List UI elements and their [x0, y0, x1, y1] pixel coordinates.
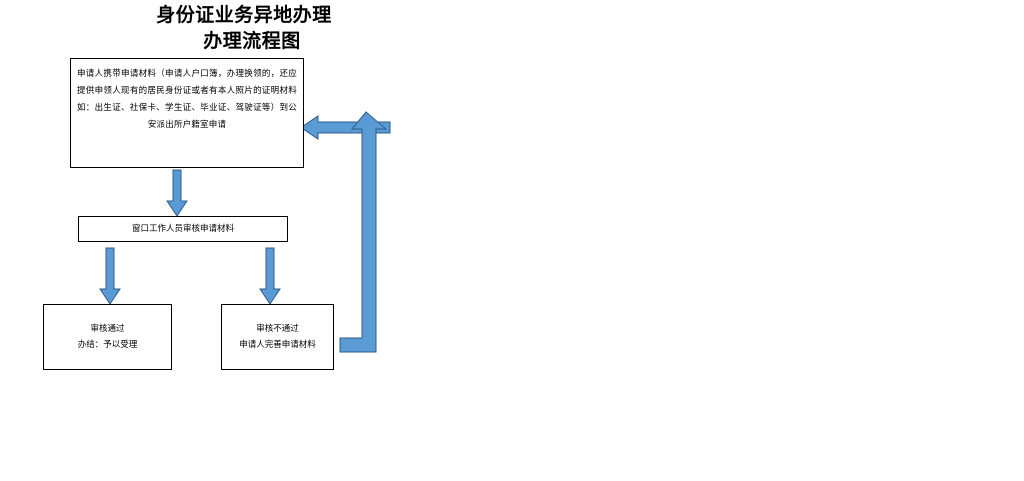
flow-node-review-text: 窗口工作人员审核申请材料 — [79, 221, 287, 237]
flow-node-review-label: 窗口工作人员审核申请材料 — [85, 221, 281, 237]
flow-node-apply-label: 申请人携带申请材料（申请人户口簿，办理换领的，还应提供申领人现有的居民身份证或者… — [77, 66, 297, 134]
connector-arrow-down-apply-to-review — [166, 170, 188, 217]
connector-arrow-down-review-to-fail — [259, 248, 281, 305]
flow-node-apply[interactable]: 申请人携带申请材料（申请人户口簿，办理换领的，还应提供申领人现有的居民身份证或者… — [70, 58, 304, 168]
flow-node-pass-label-1: 审核通过 — [50, 321, 165, 337]
flow-node-fail[interactable]: 审核不通过 申请人完善申请材料 — [221, 304, 334, 370]
document-title: 身份证业务异地办理 办理流程图 — [94, 2, 394, 54]
flowchart-canvas: 身份证业务异地办理 办理流程图 申请人携带申请材料（申请人户口簿，办理换领的，还… — [0, 0, 1024, 481]
connector-arrow-elbow-fail-to-feedback — [340, 110, 394, 358]
flow-node-fail-label-1: 审核不通过 — [228, 321, 327, 337]
flow-node-pass-text: 审核通过 办结：予以受理 — [44, 321, 171, 353]
flow-node-apply-text: 申请人携带申请材料（申请人户口簿，办理换领的，还应提供申领人现有的居民身份证或者… — [71, 59, 303, 134]
connector-arrow-down-review-to-pass — [99, 248, 121, 305]
flow-node-pass[interactable]: 审核通过 办结：予以受理 — [43, 304, 172, 370]
flow-node-pass-label-2: 办结：予以受理 — [50, 337, 165, 353]
flow-node-review[interactable]: 窗口工作人员审核申请材料 — [78, 216, 288, 242]
flow-node-fail-label-2: 申请人完善申请材料 — [228, 337, 327, 353]
title-line-2: 办理流程图 — [94, 28, 394, 54]
flow-node-fail-text: 审核不通过 申请人完善申请材料 — [222, 321, 333, 353]
title-line-1: 身份证业务异地办理 — [94, 2, 394, 28]
